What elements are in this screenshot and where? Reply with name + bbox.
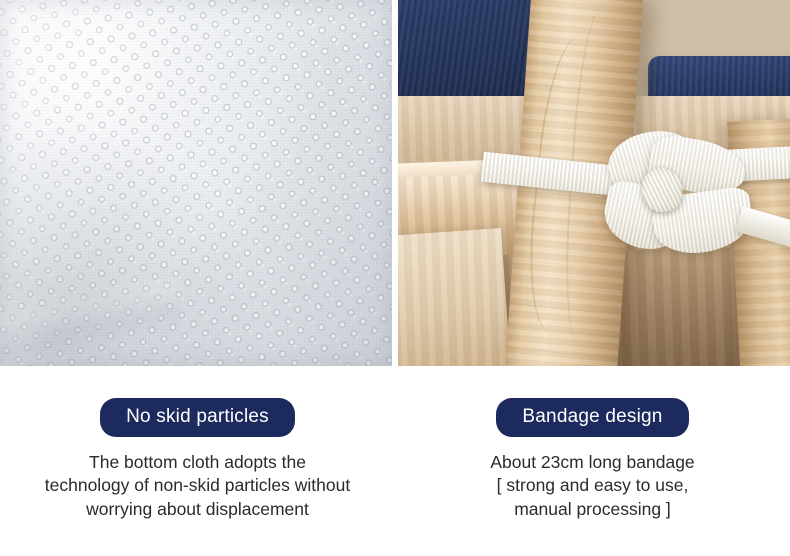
caption-text-bandage-design: About 23cm long bandage [ strong and eas…	[395, 451, 790, 521]
product-feature-panel: No skid particles The bottom cloth adopt…	[0, 0, 790, 556]
wood-block-left	[398, 228, 511, 366]
captions-row: No skid particles The bottom cloth adopt…	[0, 372, 790, 556]
badge-bandage-design: Bandage design	[496, 398, 688, 437]
caption-column-right: Bandage design About 23cm long bandage […	[395, 372, 790, 556]
caption-column-left: No skid particles The bottom cloth adopt…	[0, 372, 395, 556]
photo-non-skid-fabric	[0, 0, 392, 366]
badge-no-skid-particles: No skid particles	[100, 398, 295, 437]
photo-row	[0, 0, 790, 366]
photo-bandage-bow	[398, 0, 790, 366]
chair-scene	[398, 0, 790, 366]
fabric-vignette	[0, 0, 392, 366]
caption-text-no-skid-particles: The bottom cloth adopts the technology o…	[0, 451, 395, 521]
